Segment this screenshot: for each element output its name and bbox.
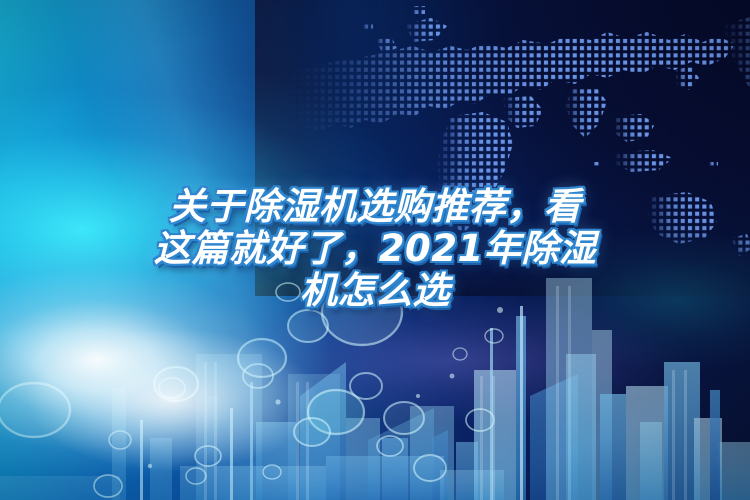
headline-line-2: 这篇就好了，2021年除湿 bbox=[40, 228, 710, 270]
headline-line-3: 机怎么选 bbox=[40, 270, 710, 312]
article-cover-banner: 关于除湿机选购推荐，看 这篇就好了，2021年除湿 机怎么选 bbox=[0, 0, 750, 500]
headline-block: 关于除湿机选购推荐，看 这篇就好了，2021年除湿 机怎么选 bbox=[0, 186, 750, 312]
headline-line-1: 关于除湿机选购推荐，看 bbox=[40, 186, 710, 228]
